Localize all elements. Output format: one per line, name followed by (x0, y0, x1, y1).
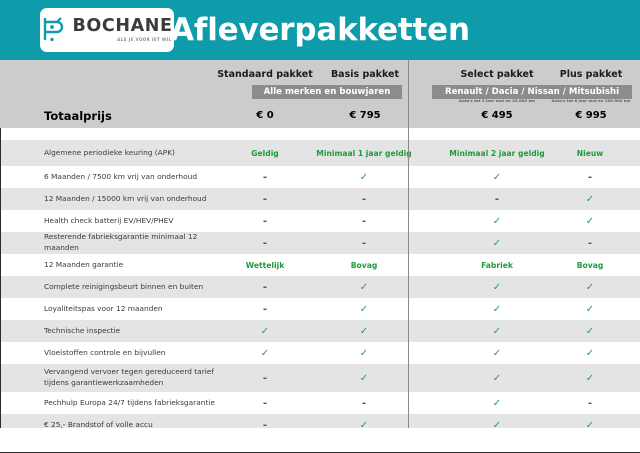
table-row: 12 Maanden garantieWettelijkBovagFabriek… (0, 254, 640, 276)
feature-value-cell: Nieuw (531, 149, 640, 158)
feature-value-cell: - (531, 172, 640, 183)
table-row: Pechhulp Europa 24/7 tijdens fabrieksgar… (0, 392, 640, 414)
table-footer-blank-row (0, 428, 640, 453)
bochane-wordmark: BOCHANE ALS JE VOOR IET WIL (72, 18, 172, 42)
table-row: 12 Maanden / 15000 km vrij van onderhoud… (0, 188, 640, 210)
brand-tagline: ALS JE VOOR IET WIL (117, 38, 171, 42)
brand-name: BOCHANE (72, 18, 172, 36)
feature-value-cell: - (531, 238, 640, 249)
table-row: Complete reinigingsbeurt binnen en buite… (0, 276, 640, 298)
group-banner-left: Alle merken en bouwjaren (252, 85, 402, 99)
feature-value-cell: ✓ (531, 373, 640, 384)
package-name-basis: Basis pakket (306, 69, 424, 80)
feature-value-cell: - (531, 398, 640, 409)
feature-value-cell: ✓ (305, 304, 423, 315)
feature-value-cell: ✓ (305, 282, 423, 293)
feature-value-cell: - (305, 216, 423, 227)
feature-value-cell: ✓ (305, 348, 423, 359)
feature-value-cell: ✓ (531, 282, 640, 293)
price-plus: € 995 (532, 110, 640, 121)
table-row: Vloeistoffen controle en bijvullen✓✓✓✓ (0, 342, 640, 364)
table-row: Resterende fabrieksgarantie minimaal 12 … (0, 232, 640, 254)
feature-value-cell: ✓ (531, 348, 640, 359)
package-subtitle-plus: Auto's tot 6 jaar oud en 100.000 km (532, 98, 640, 103)
table-row: Loyaliteitspas voor 12 maanden-✓✓✓ (0, 298, 640, 320)
feature-value-cell: - (305, 238, 423, 249)
bochane-logo: BOCHANE ALS JE VOOR IET WIL (40, 8, 174, 52)
group-column-divider (408, 60, 409, 438)
total-price-row: Totaalprijs € 0 € 795 € 495 € 995 (0, 104, 640, 128)
feature-value-cell: Bovag (531, 261, 640, 270)
feature-value-cell: ✓ (305, 172, 423, 183)
feature-value-cell: ✓ (531, 216, 640, 227)
feature-value-cell: Bovag (305, 261, 423, 270)
table-row: Health check batterij EV/HEV/PHEV--✓✓ (0, 210, 640, 232)
left-edge-accent (0, 128, 1, 438)
group-banner-right: Renault / Dacia / Nissan / Mitsubishi (432, 85, 632, 99)
feature-table: Algemene periodieke keuring (APK)GeldigM… (0, 140, 640, 436)
bochane-b-mark-icon (41, 15, 67, 45)
feature-value-cell: ✓ (531, 194, 640, 205)
page-header: BOCHANE ALS JE VOOR IET WIL (0, 0, 640, 60)
package-name-plus: Plus pakket (532, 69, 640, 80)
feature-value-cell: ✓ (531, 304, 640, 315)
feature-value-cell: ✓ (305, 326, 423, 337)
table-row: 6 Maanden / 7500 km vrij van onderhoud-✓… (0, 166, 640, 188)
total-price-label: Totaalprijs (44, 109, 112, 123)
table-row: Algemene periodieke keuring (APK)GeldigM… (0, 140, 640, 166)
feature-value-cell: ✓ (305, 373, 423, 384)
table-row: Vervangend vervoer tegen gereduceerd tar… (0, 364, 640, 392)
afleverpakketten-comparison-page: BOCHANE ALS JE VOOR IET WIL Afleverpakke… (0, 0, 640, 453)
price-basis: € 795 (306, 110, 424, 121)
feature-value-cell: - (305, 194, 423, 205)
feature-value-cell: ✓ (531, 326, 640, 337)
feature-value-cell: - (305, 398, 423, 409)
table-row: Technische inspectie✓✓✓✓ (0, 320, 640, 342)
feature-value-cell: Minimaal 1 jaar geldig (305, 149, 423, 158)
spacer-row (0, 128, 640, 140)
